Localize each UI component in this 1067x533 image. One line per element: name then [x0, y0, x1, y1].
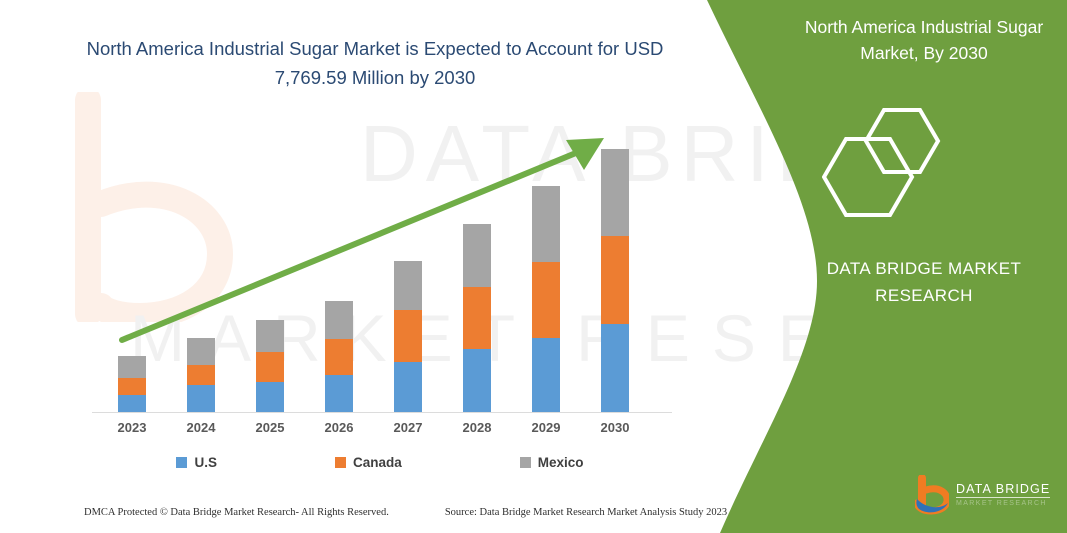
chart-x-axis-labels: 20232024202520262027202820292030	[0, 420, 700, 444]
legend-swatch-ca	[335, 457, 346, 468]
x-axis-label-2028: 2028	[447, 420, 507, 435]
green-panel-title: North America Industrial Sugar Market, B…	[790, 14, 1058, 66]
x-axis-label-2029: 2029	[516, 420, 576, 435]
bar-segment-us-2024	[187, 385, 215, 412]
bar-segment-mexico-2024	[187, 338, 215, 365]
bar-2026	[325, 301, 353, 412]
hexagon-2023-label: 2023	[95, 126, 133, 146]
hexagon-2030-shape	[824, 139, 912, 215]
footer: DMCA Protected © Data Bridge Market Rese…	[84, 507, 684, 518]
chart-baseline	[92, 412, 672, 413]
chart-legend: U.SCanadaMexico	[100, 455, 660, 470]
bar-segment-mexico-2027	[394, 261, 422, 310]
legend-label-ca: Canada	[353, 455, 402, 470]
bar-segment-mexico-2029	[532, 186, 560, 262]
bar-2030	[601, 149, 629, 412]
legend-swatch-us	[176, 457, 187, 468]
bar-segment-canada-2024	[187, 365, 215, 385]
legend-swatch-mx	[520, 457, 531, 468]
dbmr-b-mark-icon	[915, 475, 949, 515]
hexagons-svg	[822, 96, 1022, 218]
dbmr-logo-primary: DATA BRIDGE	[956, 483, 1050, 499]
bar-segment-canada-2030	[601, 236, 629, 324]
bar-segment-canada-2023	[118, 378, 146, 395]
footer-copyright: DMCA Protected © Data Bridge Market Rese…	[84, 507, 389, 518]
bar-segment-us-2026	[325, 375, 353, 412]
bar-segment-us-2029	[532, 338, 560, 412]
legend-label-us: U.S	[194, 455, 217, 470]
bar-segment-us-2027	[394, 362, 422, 412]
bar-segment-mexico-2026	[325, 301, 353, 339]
bar-segment-canada-2026	[325, 339, 353, 375]
bar-segment-canada-2025	[256, 352, 284, 382]
bar-2028	[463, 224, 491, 412]
bar-segment-us-2030	[601, 324, 629, 412]
x-axis-label-2024: 2024	[171, 420, 231, 435]
bar-segment-us-2025	[256, 382, 284, 412]
legend-item-ca[interactable]: Canada	[335, 455, 402, 470]
bar-segment-us-2023	[118, 395, 146, 412]
bar-segment-mexico-2023	[118, 356, 146, 378]
bar-segment-mexico-2030	[601, 149, 629, 236]
bar-2027	[394, 261, 422, 412]
x-axis-label-2027: 2027	[378, 420, 438, 435]
bar-segment-mexico-2025	[256, 320, 284, 352]
green-panel-brand: DATA BRIDGE MARKET RESEARCH	[790, 255, 1058, 309]
dbmr-logo: DATA BRIDGE MARKET RESEARCH	[915, 472, 1055, 518]
dbmr-logo-secondary: MARKET RESEARCH	[956, 498, 1050, 507]
infographic-canvas: DATA BRIDGE MARKET RESEARCH North Americ…	[0, 0, 1067, 533]
chart-plot-area	[100, 120, 660, 412]
bar-2023	[118, 356, 146, 412]
hexagon-group	[822, 96, 1022, 218]
bar-segment-us-2028	[463, 349, 491, 412]
legend-item-us[interactable]: U.S	[176, 455, 217, 470]
footer-source: Source: Data Bridge Market Research Mark…	[445, 507, 727, 518]
dbmr-logo-text: DATA BRIDGE MARKET RESEARCH	[956, 483, 1050, 508]
bar-segment-canada-2029	[532, 262, 560, 338]
bar-segment-canada-2027	[394, 310, 422, 362]
legend-item-mx[interactable]: Mexico	[520, 455, 584, 470]
page-title: North America Industrial Sugar Market is…	[60, 34, 690, 92]
bar-2025	[256, 320, 284, 412]
bar-2029	[532, 186, 560, 412]
x-axis-label-2025: 2025	[240, 420, 300, 435]
x-axis-label-2026: 2026	[309, 420, 369, 435]
bar-segment-canada-2028	[463, 287, 491, 349]
bar-2024	[187, 338, 215, 412]
hexagon-2030-label: 2030	[30, 159, 68, 179]
x-axis-label-2023: 2023	[102, 420, 162, 435]
x-axis-label-2030: 2030	[585, 420, 645, 435]
legend-label-mx: Mexico	[538, 455, 584, 470]
bar-segment-mexico-2028	[463, 224, 491, 287]
